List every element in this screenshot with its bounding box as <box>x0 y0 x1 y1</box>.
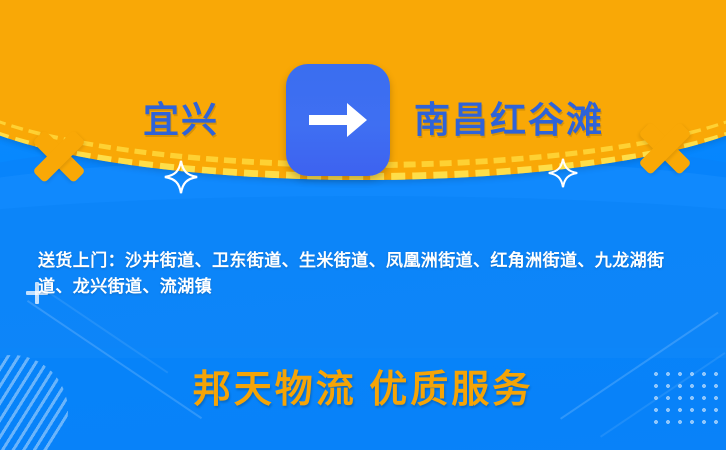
company-slogan: 邦天物流 优质服务 <box>0 358 726 413</box>
arrow-right-icon <box>286 64 390 176</box>
delivery-coverage-text: 送货上门：沙井街道、卫东街道、生米街道、凤凰洲街道、红角洲街道、九龙湖街道、龙兴… <box>38 248 698 301</box>
arrow-right-glyph <box>307 97 369 143</box>
route-row: 宜兴 南昌红谷滩 <box>0 68 726 172</box>
logistics-route-banner: 宜兴 南昌红谷滩 送货上门：沙井街道、卫东街道、生米街道、凤凰洲街道、红角洲街道… <box>0 0 726 450</box>
origin-city: 宜兴 <box>76 102 286 138</box>
destination-city: 南昌红谷滩 <box>390 102 650 138</box>
